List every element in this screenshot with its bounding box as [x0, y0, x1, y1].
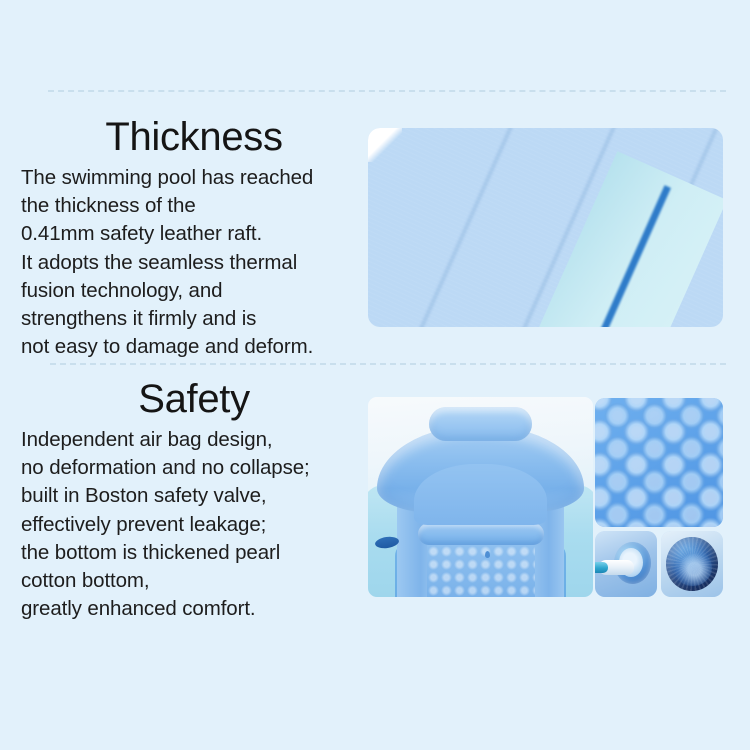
tub-arc-opening [414, 464, 547, 526]
thickness-body-text: The swimming pool has reached the thickn… [18, 164, 370, 361]
tub-headrest-pillow [429, 407, 533, 441]
tub-textured-floor [427, 545, 535, 597]
inflation-hose [595, 562, 608, 573]
product-infographic-page: Thickness The swimming pool has reached … [0, 0, 750, 750]
thickness-heading: Thickness [18, 114, 370, 160]
valve-cap-rim-highlight [673, 549, 711, 586]
tub-backrest-rib-3 [418, 523, 544, 545]
tub-water-drop [485, 551, 490, 558]
corner-highlight [368, 128, 402, 162]
bubble-texture-image [595, 398, 723, 527]
top-divider [48, 90, 726, 92]
middle-divider [50, 363, 726, 365]
valve-cap-image [661, 531, 723, 597]
bubble-grid-row-b [595, 398, 723, 527]
safety-heading: Safety [18, 376, 370, 422]
inflatable-tub-image [368, 397, 593, 597]
safety-body-text: Independent air bag design, no deformati… [18, 426, 370, 623]
thickness-text-block: Thickness The swimming pool has reached … [18, 114, 370, 361]
thickness-fabric-closeup-image [368, 128, 723, 327]
safety-text-block: Safety Independent air bag design, no de… [18, 376, 370, 623]
boston-valve-nozzle-image [595, 531, 657, 597]
